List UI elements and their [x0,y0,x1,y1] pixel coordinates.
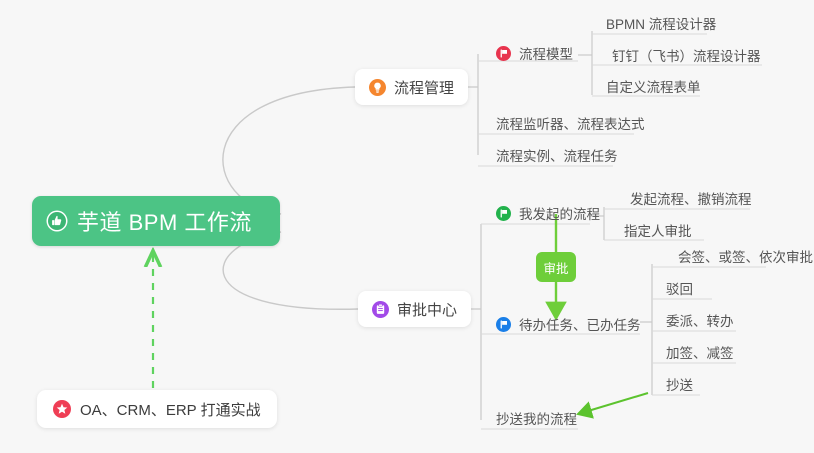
arrow-cc-to-cc-my-processes [578,393,648,414]
node-reject[interactable]: 驳回 [660,275,699,301]
node-dingtalk-designer[interactable]: 钉钉（飞书）流程设计器 [606,42,767,68]
label-start-cancel-process: 发起流程、撤销流程 [630,188,752,208]
node-delegate-transfer[interactable]: 委派、转办 [660,307,740,333]
bottom-feature-label: OA、CRM、ERP 打通实战 [80,399,261,420]
node-assignee-approve[interactable]: 指定人审批 [618,217,698,243]
bottom-feature-node[interactable]: OA、CRM、ERP 打通实战 [37,390,277,428]
label-cc-my-processes: 抄送我的流程 [496,408,577,428]
label-countersign: 会签、或签、依次审批 [678,246,813,266]
label-add-remove-sign: 加签、减签 [666,342,734,362]
node-my-processes[interactable]: 我发起的流程 [490,200,606,226]
approval-badge: 审批 [536,252,576,282]
approval-badge-label: 审批 [543,258,568,277]
label-my-processes: 我发起的流程 [519,203,600,223]
flag-icon [496,46,511,61]
label-instance-task: 流程实例、流程任务 [496,145,618,165]
node-start-cancel-process[interactable]: 发起流程、撤销流程 [624,185,758,211]
label-dingtalk-designer: 钉钉（飞书）流程设计器 [612,45,761,65]
node-instance-task[interactable]: 流程实例、流程任务 [490,142,624,168]
node-process-model[interactable]: 流程模型 [490,40,579,66]
node-custom-form[interactable]: 自定义流程表单 [600,73,707,99]
node-add-remove-sign[interactable]: 加签、减签 [660,339,740,365]
label-delegate-transfer: 委派、转办 [666,310,734,330]
label-listener-expression: 流程监听器、流程表达式 [496,113,645,133]
root-node[interactable]: 芋道 BPM 工作流 [32,196,280,246]
flag-icon [496,206,511,221]
label-assignee-approve: 指定人审批 [624,220,692,240]
branch-label-process-management: 流程管理 [394,77,454,98]
clipboard-icon [372,301,389,318]
branch-label-approval-center: 审批中心 [397,299,457,320]
node-cc[interactable]: 抄送 [660,371,699,397]
label-process-model: 流程模型 [519,43,573,63]
node-countersign[interactable]: 会签、或签、依次审批 [672,243,814,269]
lightbulb-icon [369,79,386,96]
flag-icon [496,317,511,332]
branch-node-process-management[interactable]: 流程管理 [355,69,468,105]
node-bpmn-designer[interactable]: BPMN 流程设计器 [600,10,722,36]
label-bpmn-designer: BPMN 流程设计器 [606,13,716,33]
label-todo-done-tasks: 待办任务、已办任务 [519,314,641,334]
label-reject: 驳回 [666,278,693,298]
node-listener-expression[interactable]: 流程监听器、流程表达式 [490,110,651,136]
link-root-to-process-management [223,87,355,214]
thumbs-up-icon [46,210,68,232]
node-cc-my-processes[interactable]: 抄送我的流程 [490,405,583,431]
branch-node-approval-center[interactable]: 审批中心 [358,291,471,327]
label-cc: 抄送 [666,374,693,394]
mindmap-canvas: 芋道 BPM 工作流 流程管理 流程模型 BPMN 流程设计器 钉钉（飞书）流程 [0,0,814,453]
star-badge-icon [53,400,71,418]
node-todo-done-tasks[interactable]: 待办任务、已办任务 [490,311,647,337]
root-label: 芋道 BPM 工作流 [77,205,252,237]
label-custom-form: 自定义流程表单 [606,76,701,96]
